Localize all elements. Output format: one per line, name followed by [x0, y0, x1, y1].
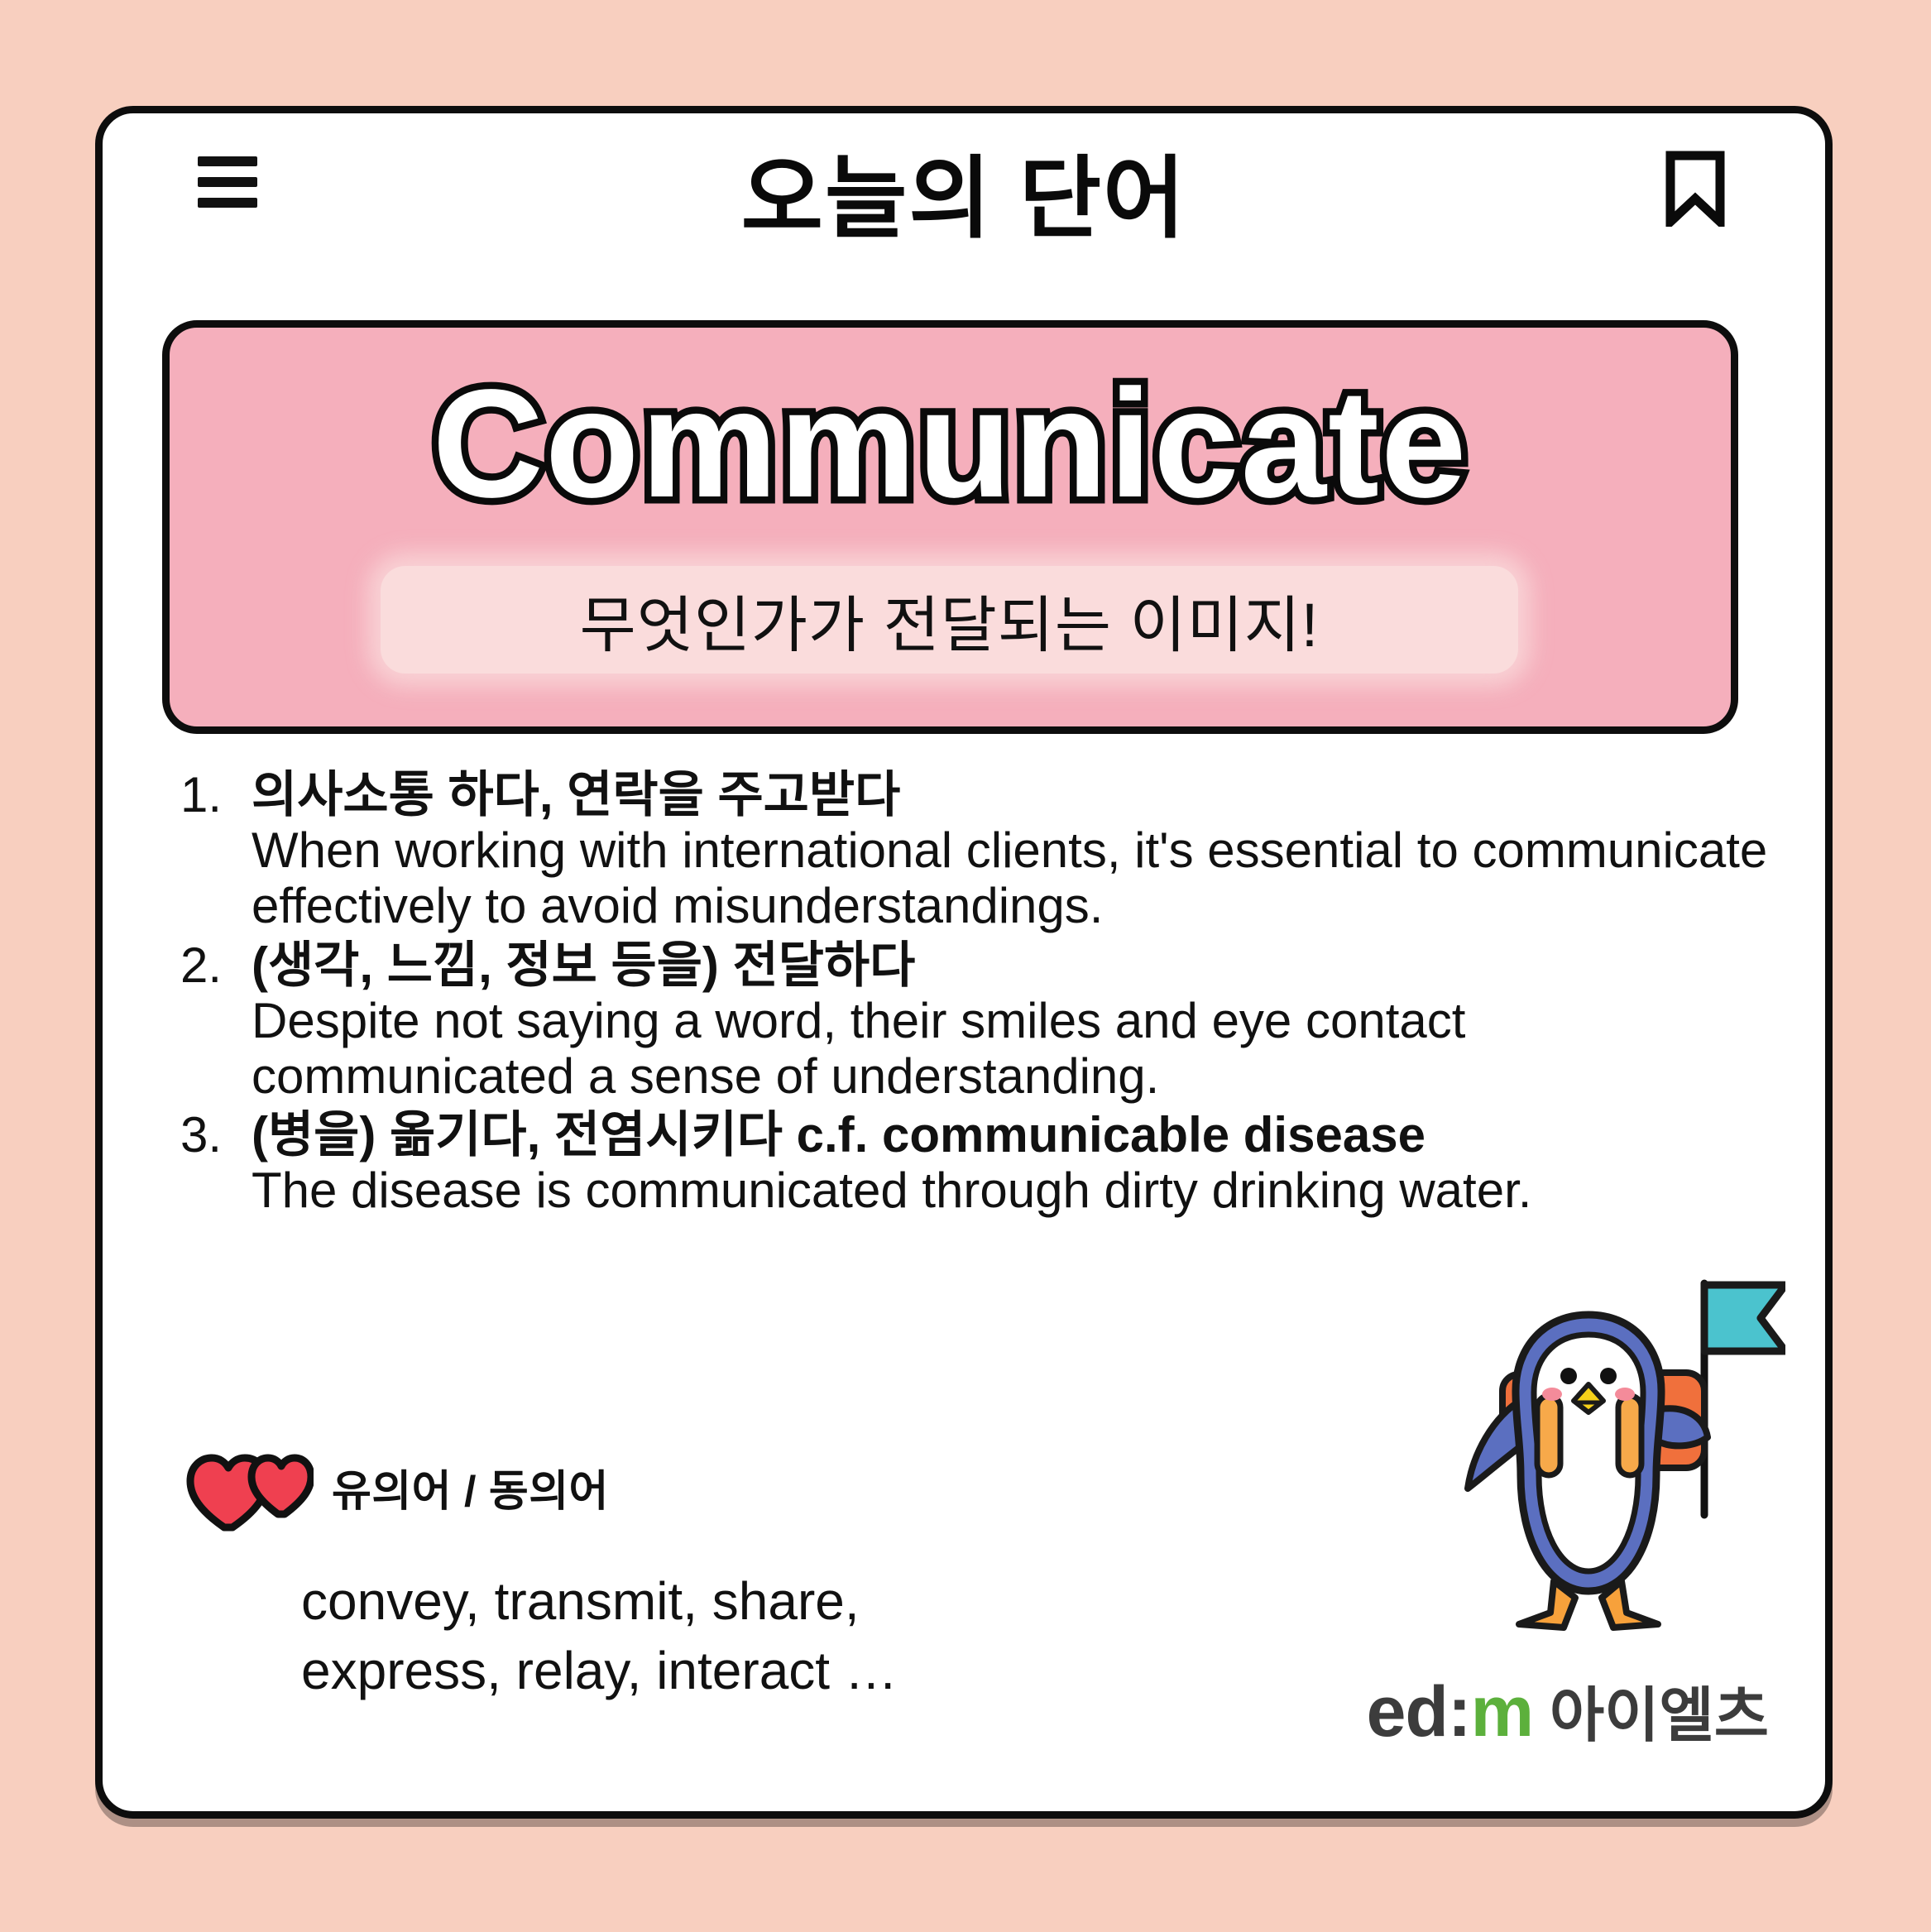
definition-number: 2. — [152, 937, 252, 993]
double-hearts-icon — [185, 1441, 314, 1532]
synonyms-header: 유의어 / 동의어 — [152, 1437, 1062, 1536]
synonyms-line-1: convey, transmit, share, — [301, 1566, 1062, 1636]
synonyms-label: 유의어 / 동의어 — [332, 1456, 609, 1518]
definition-example: The disease is communicated through dirt… — [252, 1163, 1799, 1218]
definition-example: Despite not saying a word, their smiles … — [252, 993, 1799, 1104]
penguin-glyph — [1413, 1267, 1785, 1656]
subtitle-pill: 무엇인가가 전달되는 이미지! — [381, 566, 1518, 674]
synonyms-section: 유의어 / 동의어 convey, transmit, share, expre… — [152, 1437, 1062, 1706]
definition-item: 1. 의사소통 하다, 연락을 주고받다 When working with i… — [152, 767, 1799, 934]
hearts-glyph — [185, 1441, 314, 1532]
penguin-with-flag-icon — [1413, 1267, 1785, 1656]
bookmark-icon[interactable] — [1665, 151, 1726, 227]
subtitle-text: 무엇인가가 전달되는 이미지! — [381, 566, 1518, 674]
definition-item: 3. (병을) 옮기다, 전염시키다 c.f. communicable dis… — [152, 1107, 1799, 1218]
logo-ed-text: ed: — [1367, 1671, 1471, 1753]
word-card-frame: 오늘의 단어 Communicate 무엇인가가 전달되는 이미지! 1. 의사… — [95, 106, 1833, 1819]
page-title: 오늘의 단어 — [103, 150, 1825, 248]
definition-list: 1. 의사소통 하다, 연락을 주고받다 When working with i… — [152, 767, 1799, 1222]
definition-body: (병을) 옮기다, 전염시키다 c.f. communicable diseas… — [252, 1107, 1799, 1218]
logo-m-text: m — [1471, 1671, 1533, 1753]
definition-korean: (병을) 옮기다, 전염시키다 c.f. communicable diseas… — [252, 1107, 1799, 1163]
definition-example: When working with international clients,… — [252, 822, 1799, 933]
brand-logo: ed: m 아이엘츠 — [1367, 1666, 1769, 1753]
logo-korean-text: 아이엘츠 — [1550, 1666, 1769, 1753]
definition-korean: (생각, 느낌, 정보 등을) 전달하다 — [252, 937, 1799, 993]
definition-item: 2. (생각, 느낌, 정보 등을) 전달하다 Despite not sayi… — [152, 937, 1799, 1105]
bookmark-glyph — [1665, 151, 1726, 227]
definition-number: 3. — [152, 1107, 252, 1163]
definition-number: 1. — [152, 767, 252, 822]
headword-card: Communicate 무엇인가가 전달되는 이미지! — [162, 320, 1738, 734]
header-bar: 오늘의 단어 — [103, 113, 1825, 295]
definition-body: 의사소통 하다, 연락을 주고받다 When working with inte… — [252, 767, 1799, 934]
synonyms-line-2: express, relay, interact … — [301, 1636, 1062, 1705]
definition-korean: 의사소통 하다, 연락을 주고받다 — [252, 767, 1799, 822]
definition-body: (생각, 느낌, 정보 등을) 전달하다 Despite not saying … — [252, 937, 1799, 1105]
headword-text: Communicate — [170, 356, 1731, 533]
synonyms-list: convey, transmit, share, express, relay,… — [301, 1566, 1062, 1706]
